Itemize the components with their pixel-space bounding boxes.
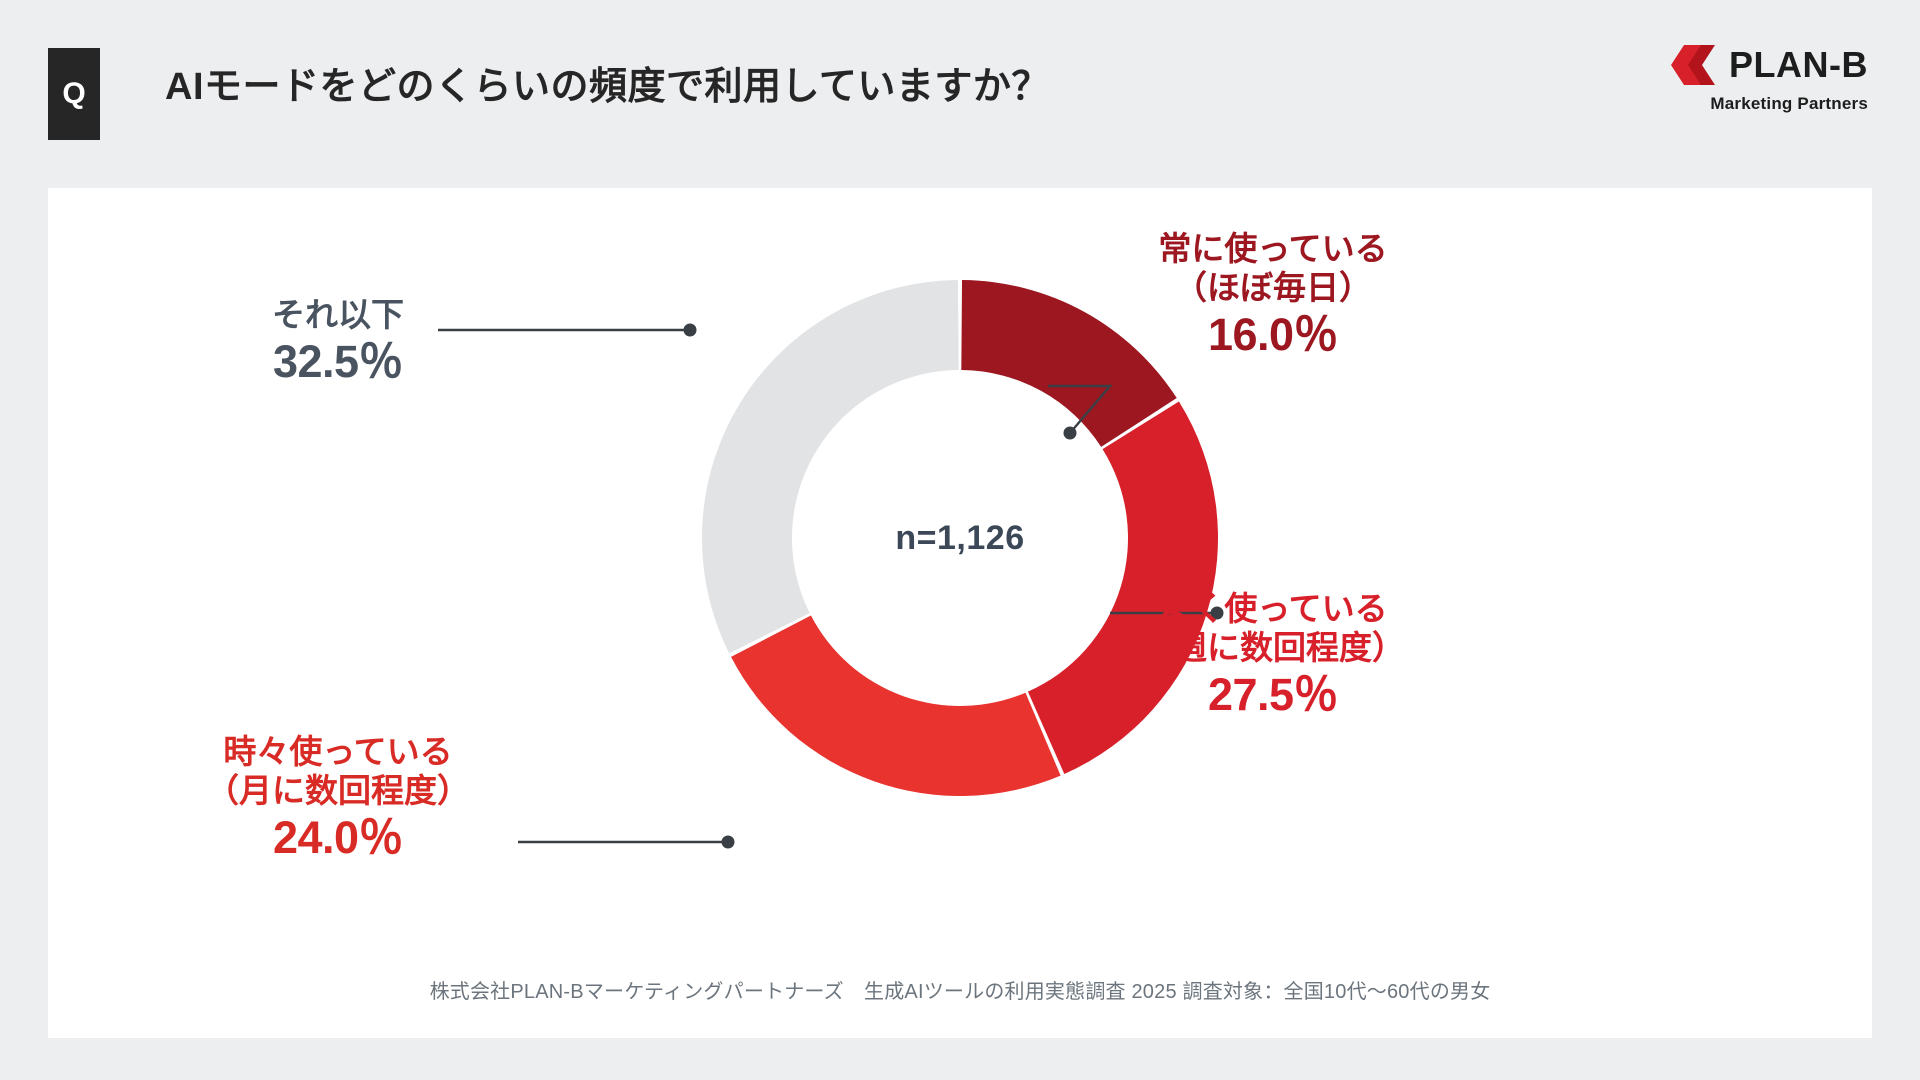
callout-sometimes: 時々使っている （月に数回程度） 24.0％ [168, 733, 508, 864]
chart-stage: n=1,126 常に使 [48, 188, 1872, 978]
question-badge-label: Q [62, 79, 85, 109]
callout-less: それ以下 32.5％ [248, 296, 428, 388]
source-footnote: 株式会社PLAN-Bマーケティングパートナーズ 生成AIツールの利用実態調査 2… [48, 975, 1872, 1004]
logo-top-row: PLAN-B [1636, 42, 1868, 88]
logo-wordmark: PLAN-B [1729, 47, 1868, 83]
page-title: AIモードをどのくらいの頻度で利用していますか？ [165, 55, 1050, 110]
callout-less-value: 32.5％ [248, 335, 428, 388]
callout-always-line1: 常に使っている [1108, 230, 1438, 269]
callout-always-value: 16.0％ [1108, 308, 1438, 361]
callout-often: よく使っている （週に数回程度） 27.5％ [1108, 590, 1438, 721]
chart-card: n=1,126 常に使 [48, 188, 1872, 1038]
callout-sometimes-line2: （月に数回程度） [168, 772, 508, 811]
callout-often-line2: （週に数回程度） [1108, 629, 1438, 668]
callout-less-line1: それ以下 [248, 296, 428, 335]
leader-line-sometimes [518, 836, 735, 849]
logo-tagline: Marketing Partners [1636, 94, 1868, 114]
callout-often-line1: よく使っている [1108, 590, 1438, 629]
plan-b-chevron-icon [1671, 45, 1715, 85]
callout-sometimes-value: 24.0％ [168, 811, 508, 864]
callout-always-line2: （ほぼ毎日） [1108, 269, 1438, 308]
callout-always: 常に使っている （ほぼ毎日） 16.0％ [1108, 230, 1438, 361]
brand-logo: PLAN-B Marketing Partners [1636, 42, 1868, 120]
leader-line-always [1048, 386, 1110, 440]
callout-sometimes-line1: 時々使っている [168, 733, 508, 772]
page-header: Q AIモードをどのくらいの頻度で利用していますか？ PLAN-B Market… [0, 0, 1920, 188]
question-badge: Q [48, 48, 100, 140]
callout-often-value: 27.5％ [1108, 668, 1438, 721]
leader-line-less [438, 324, 697, 337]
